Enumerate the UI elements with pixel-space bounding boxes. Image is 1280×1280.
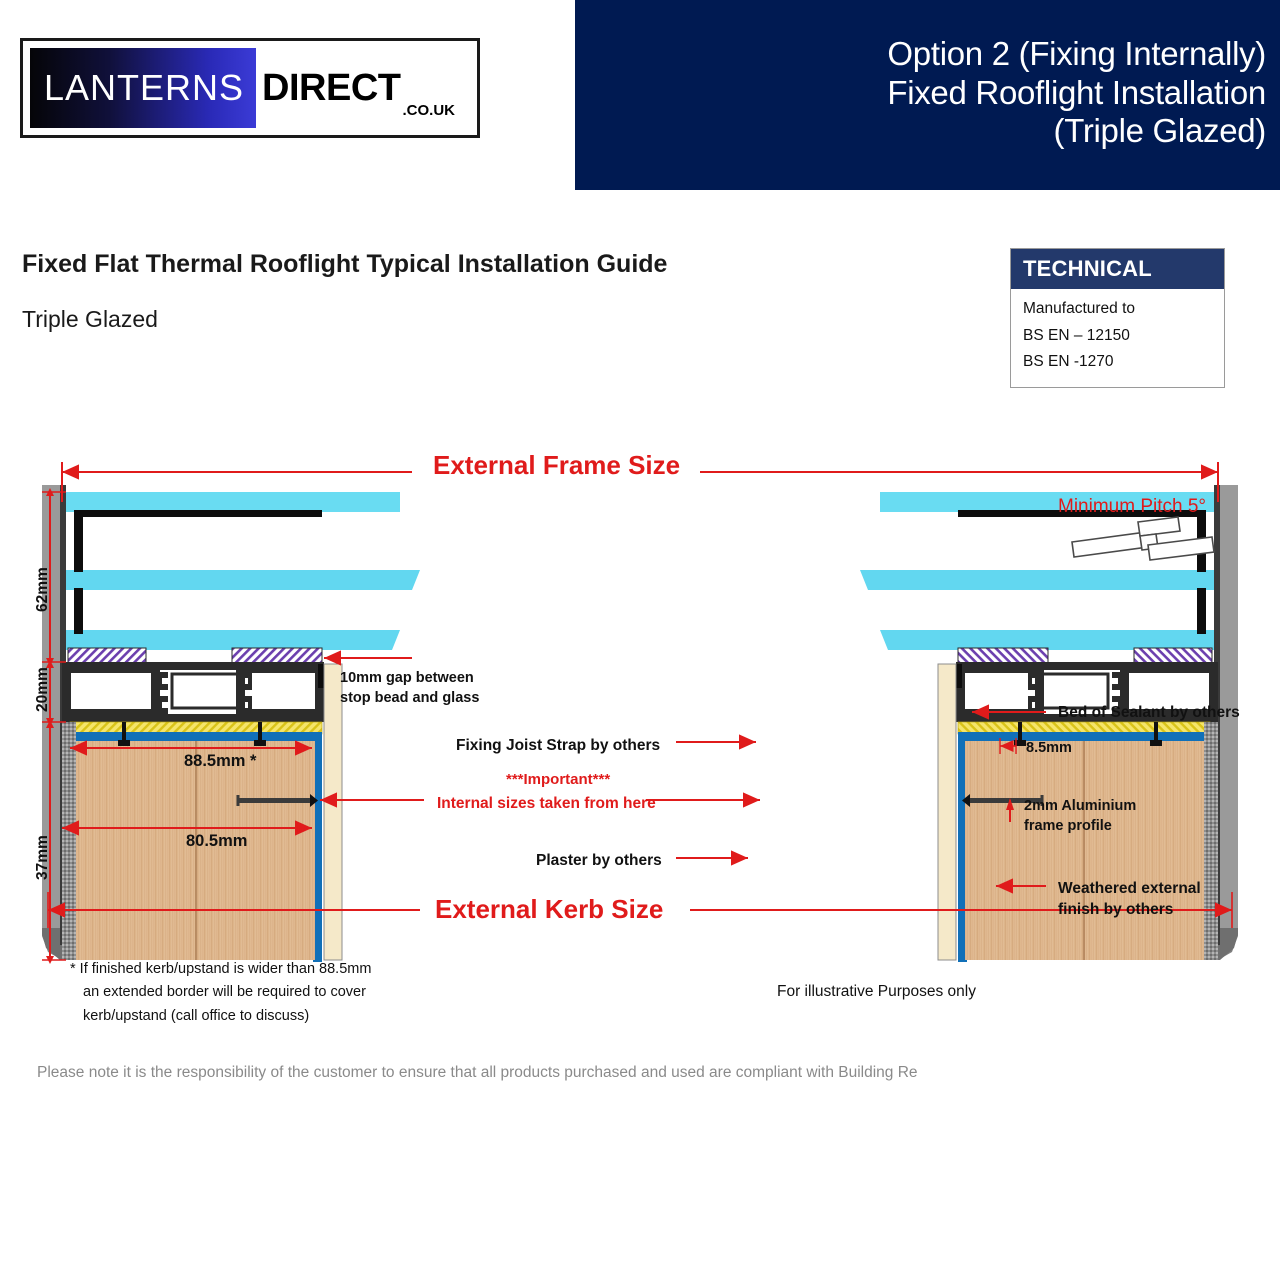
external-kerb-size-label: External Kerb Size	[435, 892, 663, 928]
logo-domain-text: .CO.UK	[403, 102, 456, 119]
external-frame-size-label: External Frame Size	[433, 448, 680, 484]
callout-10mm-gap-line2: stop bead and glass	[340, 688, 479, 708]
logo-lanterns-block: LANTERNS	[30, 48, 256, 128]
technical-line-1: BS EN – 12150	[1023, 323, 1224, 350]
callout-fixing-joist-strap: Fixing Joist Strap by others	[456, 735, 660, 756]
kerb-footnote: * If finished kerb/upstand is wider than…	[70, 958, 371, 1028]
callout-weathered-finish: Weathered external finish by others	[1058, 878, 1201, 921]
callout-2mm-aluminium: 2mm Aluminium frame profile	[1024, 796, 1136, 836]
technical-box-header: TECHNICAL	[1011, 249, 1224, 289]
callout-10mm-gap-line1: 10mm gap between	[340, 668, 479, 688]
logo-lanterns-text: LANTERNS	[44, 67, 244, 109]
horizontal-dim-80-5mm: 80.5mm	[186, 832, 247, 851]
technical-box-body: Manufactured to BS EN – 12150 BS EN -127…	[1011, 289, 1224, 376]
header-line-1: Option 2 (Fixing Internally)	[887, 35, 1266, 74]
kerb-footnote-line2: an extended border will be required to c…	[70, 981, 371, 1004]
technical-line-2: BS EN -1270	[1023, 349, 1224, 376]
page-title: Fixed Flat Thermal Rooflight Typical Ins…	[22, 250, 667, 279]
header-banner: Option 2 (Fixing Internally) Fixed Roofl…	[575, 0, 1280, 190]
brand-logo: LANTERNS DIRECT .CO.UK	[20, 38, 480, 138]
minimum-pitch-label: Minimum Pitch 5°	[1058, 494, 1206, 520]
illustrative-note: For illustrative Purposes only	[777, 983, 976, 1001]
callout-bed-of-sealant: Bed of Sealant by others	[1058, 702, 1240, 723]
callout-10mm-gap: 10mm gap between stop bead and glass	[340, 668, 479, 708]
installation-section-diagram: External Frame Size External Kerb Size M…	[0, 430, 1280, 990]
header-line-2: Fixed Rooflight Installation	[887, 74, 1266, 113]
callout-weathered-finish-line1: Weathered external	[1058, 878, 1201, 899]
aluminium-frame-profile	[62, 662, 324, 722]
vertical-dim-37mm: 37mm	[34, 835, 52, 880]
important-internal-sizes: Internal sizes taken from here	[437, 793, 656, 814]
header-line-3: (Triple Glazed)	[1054, 112, 1267, 151]
callout-2mm-aluminium-line2: frame profile	[1024, 816, 1136, 836]
important-heading: ***Important***	[506, 770, 610, 791]
logo-direct-text: DIRECT	[262, 67, 400, 110]
callout-2mm-aluminium-line1: 2mm Aluminium	[1024, 796, 1136, 816]
kerb-footnote-line3: kerb/upstand (call office to discuss)	[70, 1005, 371, 1028]
technical-heading: TECHNICAL	[1023, 256, 1152, 282]
page-subtitle: Triple Glazed	[22, 306, 158, 333]
left-section-assembly	[42, 485, 420, 962]
logo-direct-block: DIRECT .CO.UK	[256, 48, 455, 128]
vertical-dim-20mm: 20mm	[34, 667, 52, 712]
callout-weathered-finish-line2: finish by others	[1058, 899, 1201, 920]
vertical-dim-62mm: 62mm	[34, 567, 52, 612]
callout-plaster-by-others: Plaster by others	[536, 850, 662, 871]
horizontal-dim-88-5mm: 88.5mm *	[184, 752, 256, 771]
callout-8-5mm: 8.5mm	[1026, 738, 1072, 758]
technical-line-0: Manufactured to	[1023, 296, 1224, 323]
disclaimer-note: Please note it is the responsibility of …	[37, 1064, 918, 1082]
kerb-footnote-line1: * If finished kerb/upstand is wider than…	[70, 961, 371, 977]
technical-box: TECHNICAL Manufactured to BS EN – 12150 …	[1010, 248, 1225, 388]
minimum-pitch-icon	[1072, 517, 1214, 560]
